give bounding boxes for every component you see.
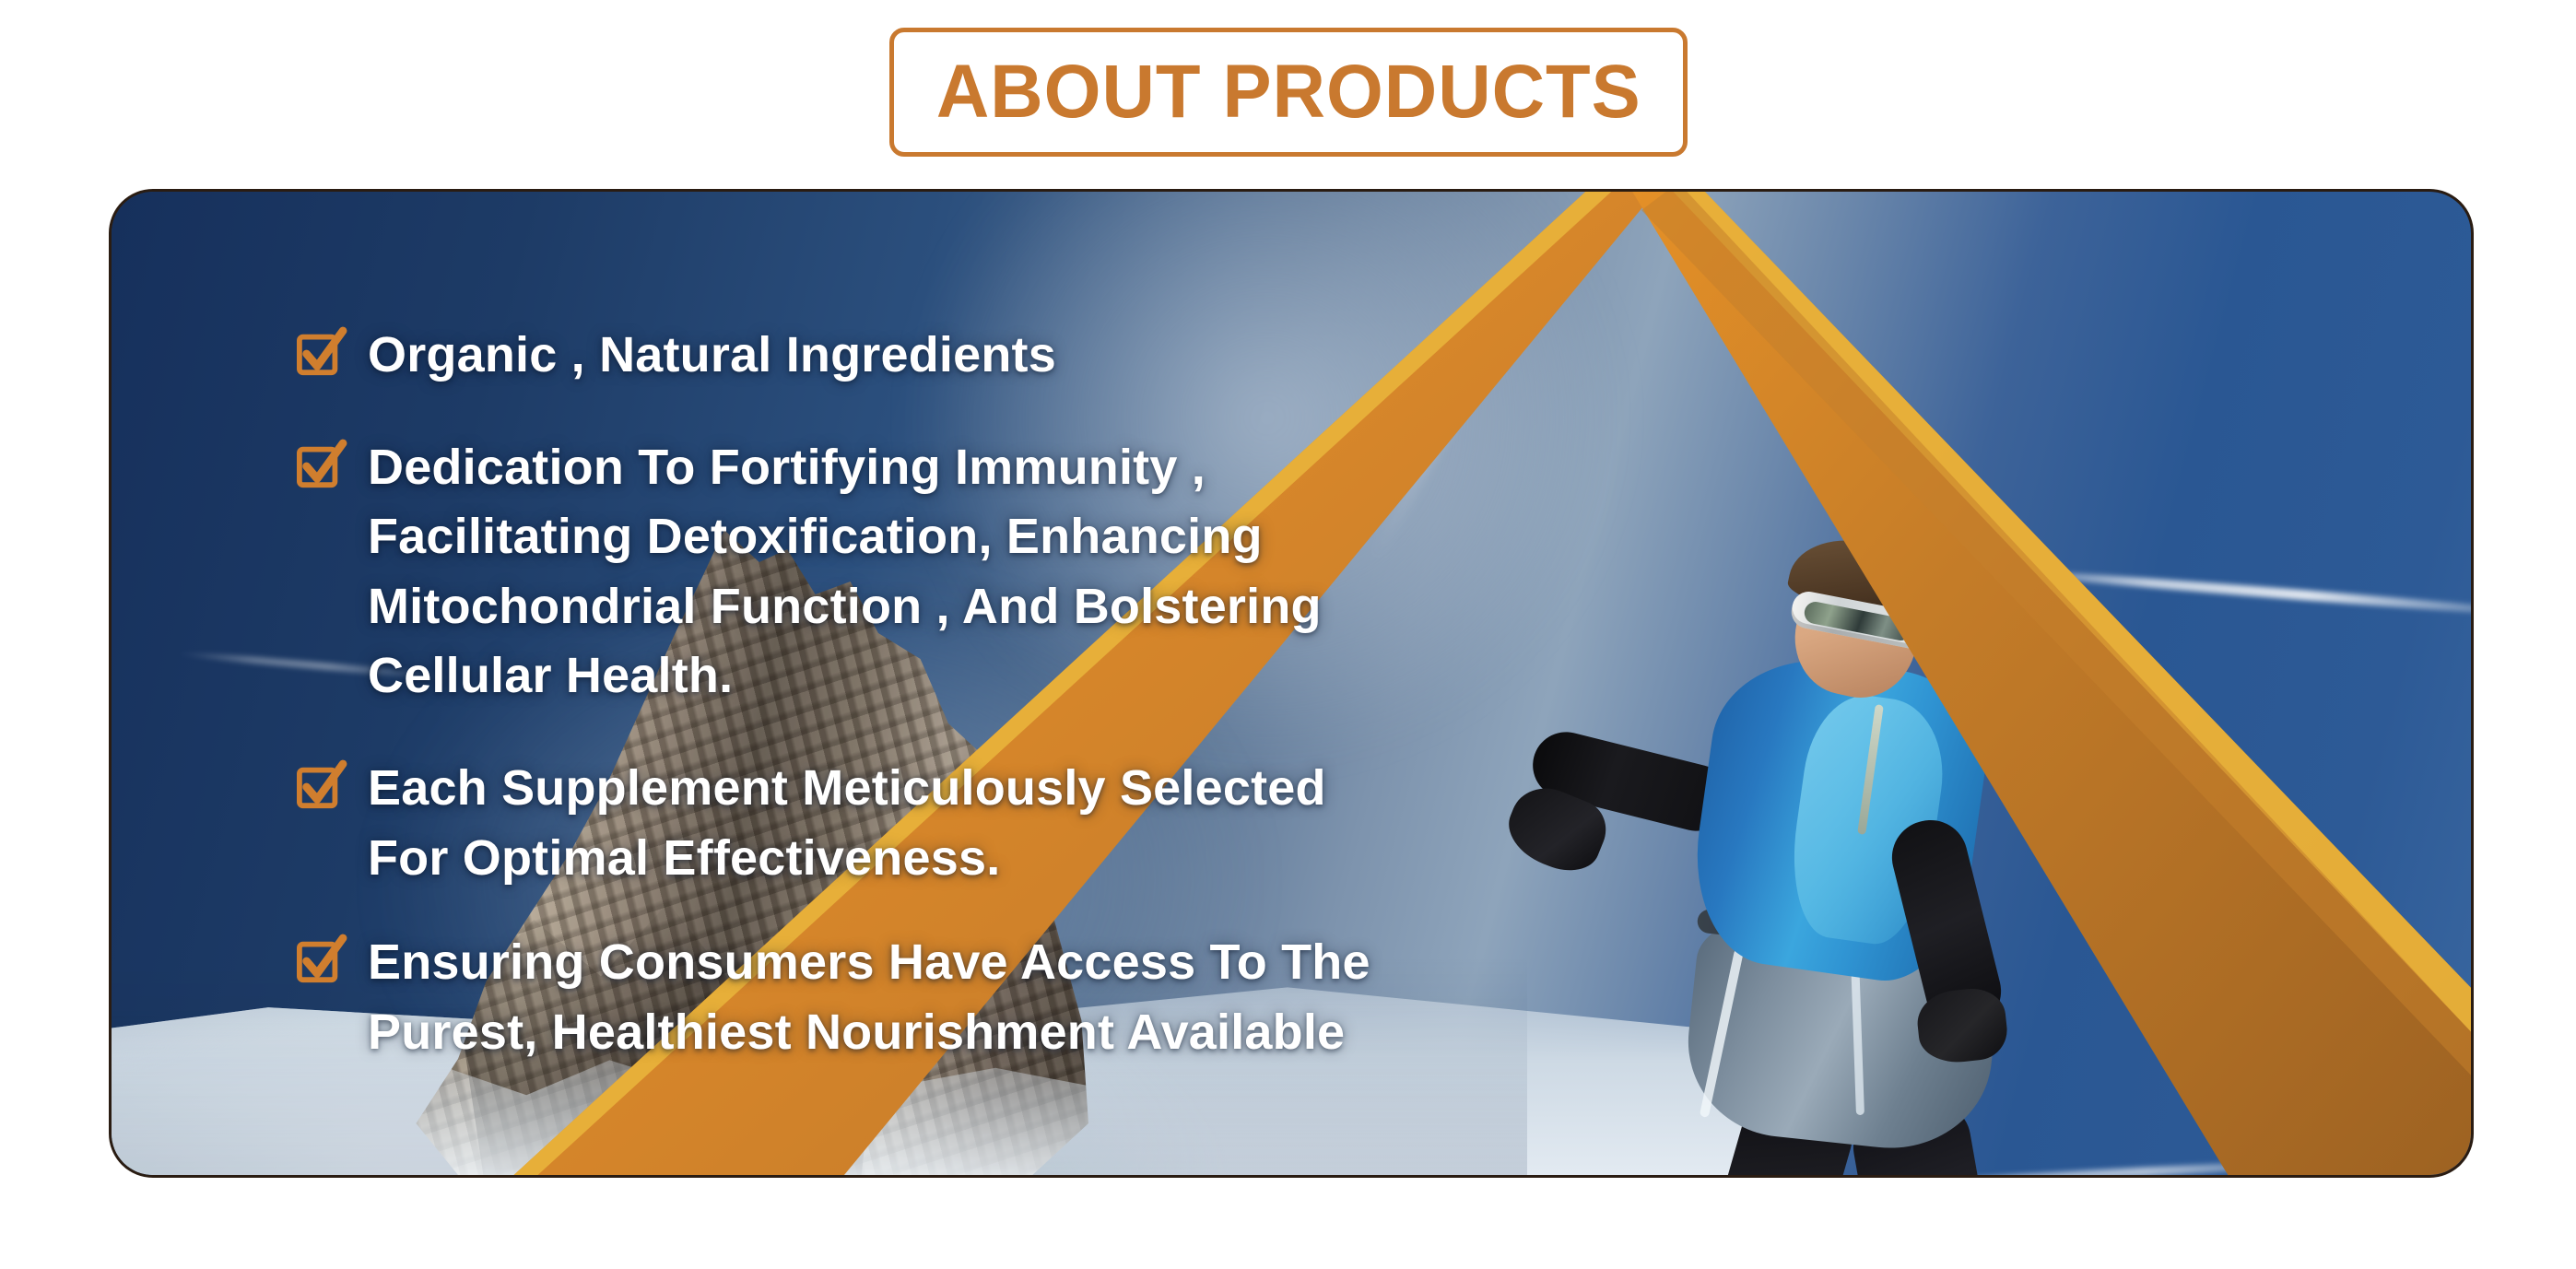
about-products-header: ABOUT PRODUCTS <box>889 28 1688 157</box>
list-item: Dedication To Fortifying Immunity , Faci… <box>296 433 1522 711</box>
benefits-list: Organic , Natural Ingredients Dedication… <box>296 321 1522 1067</box>
checkbox-checked-icon <box>296 329 346 377</box>
list-item-label: Each Supplement Meticulously Selected Fo… <box>368 754 1326 893</box>
list-item-label: Ensuring Consumers Have Access To The Pu… <box>368 928 1370 1067</box>
list-item: Ensuring Consumers Have Access To The Pu… <box>296 928 1522 1067</box>
list-item: Each Supplement Meticulously Selected Fo… <box>296 754 1522 893</box>
card-photo-background: Organic , Natural Ingredients Dedication… <box>112 192 2471 1175</box>
list-item: Organic , Natural Ingredients <box>296 321 1522 391</box>
checkbox-checked-icon <box>296 441 346 489</box>
list-item-label: Dedication To Fortifying Immunity , Faci… <box>368 433 1322 711</box>
runner-figure <box>1522 542 2185 1175</box>
about-products-card: Organic , Natural Ingredients Dedication… <box>109 189 2474 1178</box>
checkbox-checked-icon <box>296 936 346 984</box>
list-item-label: Organic , Natural Ingredients <box>368 321 1056 391</box>
page-title: ABOUT PRODUCTS <box>936 54 1641 130</box>
checkbox-checked-icon <box>296 762 346 810</box>
page-root: ABOUT PRODUCTS <box>0 0 2576 1269</box>
